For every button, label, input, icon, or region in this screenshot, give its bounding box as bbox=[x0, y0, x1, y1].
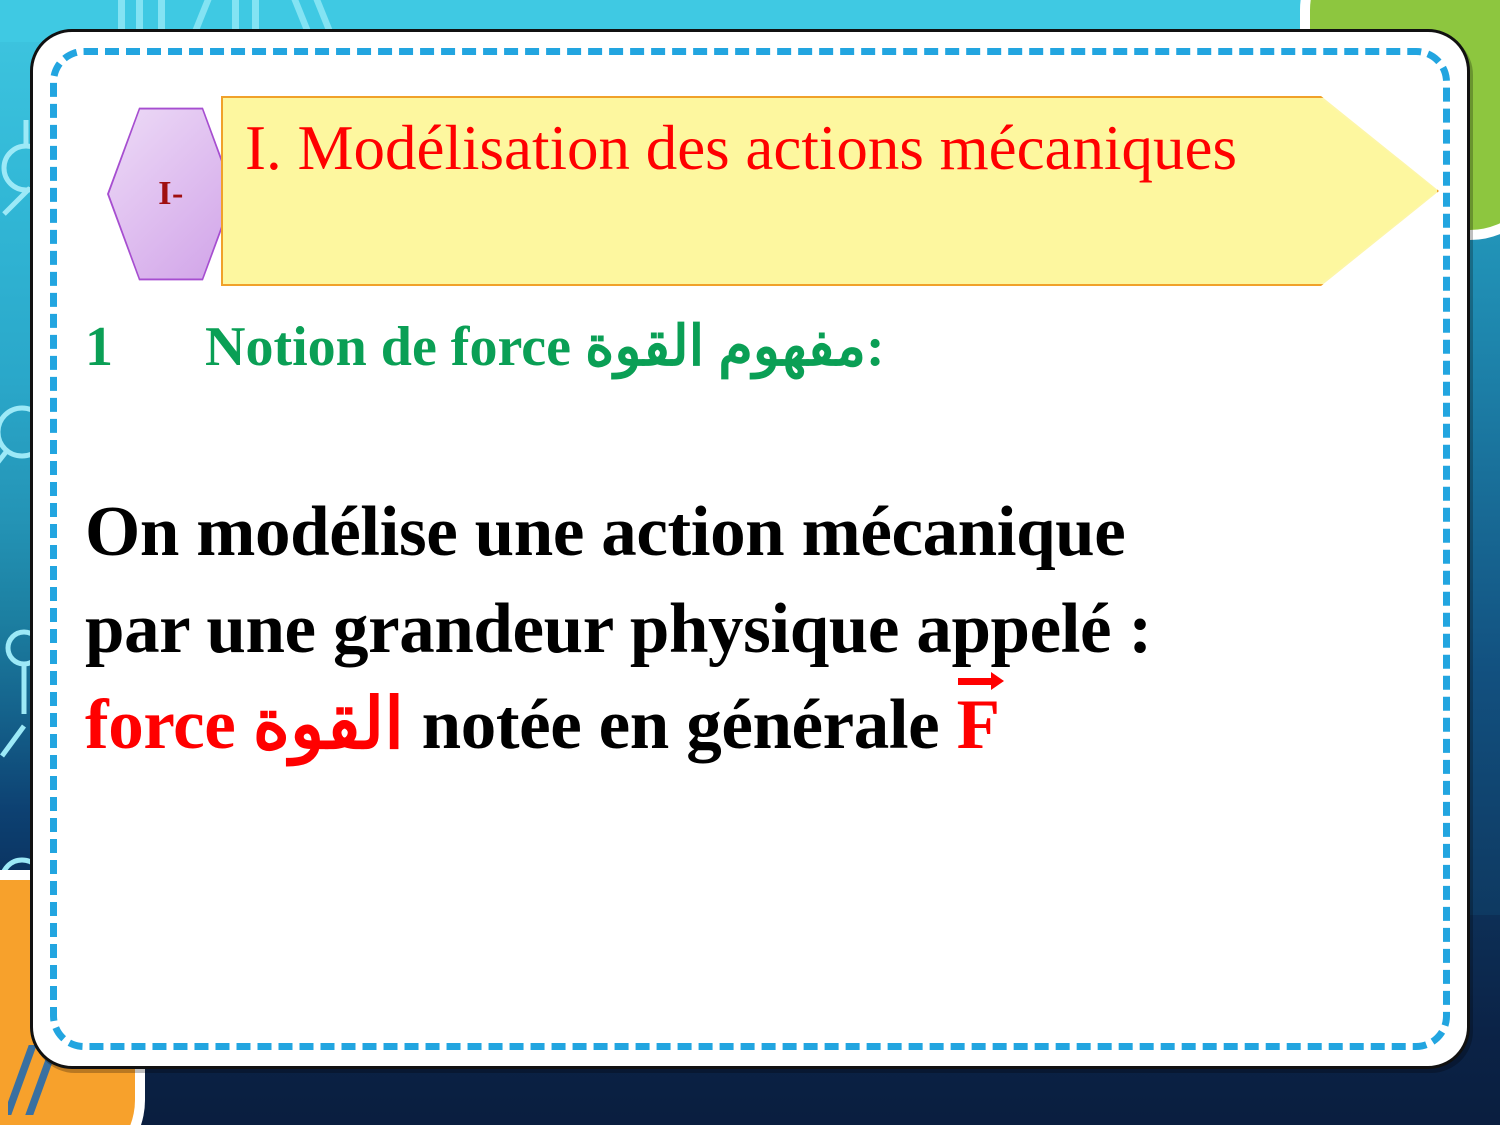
body-keyword-fr: force bbox=[85, 686, 235, 764]
section-number: 1 bbox=[85, 315, 205, 379]
body-line3-text: notée en générale bbox=[422, 686, 940, 764]
section-heading: 1 Notion de force مفهوم القوة : bbox=[85, 314, 1425, 379]
content-card: I- I. Modélisation des actions mécanique… bbox=[30, 29, 1470, 1069]
body-paragraph: On modélise une action mécanique par une… bbox=[85, 484, 1435, 774]
section-title-ar: مفهوم القوة bbox=[585, 314, 866, 379]
title-banner-text: I. Modélisation des actions mécaniques bbox=[245, 108, 1305, 189]
slide-root: I- I. Modélisation des actions mécanique… bbox=[0, 0, 1500, 1125]
force-symbol-letter: F bbox=[957, 686, 1000, 764]
vector-arrow-icon bbox=[958, 671, 1004, 691]
body-line-1: On modélise une action mécanique bbox=[85, 484, 1435, 581]
hexagon-badge-label: I- bbox=[109, 106, 233, 282]
section-title-fr: Notion de force bbox=[205, 315, 571, 379]
body-keyword-ar: القوة bbox=[253, 686, 404, 764]
header-row: I- I. Modélisation des actions mécanique… bbox=[81, 92, 1431, 292]
force-vector-symbol: F bbox=[957, 677, 1000, 774]
section-colon: : bbox=[866, 315, 885, 379]
body-line-2: par une grandeur physique appelé : bbox=[85, 581, 1435, 678]
body-line-3: force القوة notée en générale F bbox=[85, 677, 1435, 774]
